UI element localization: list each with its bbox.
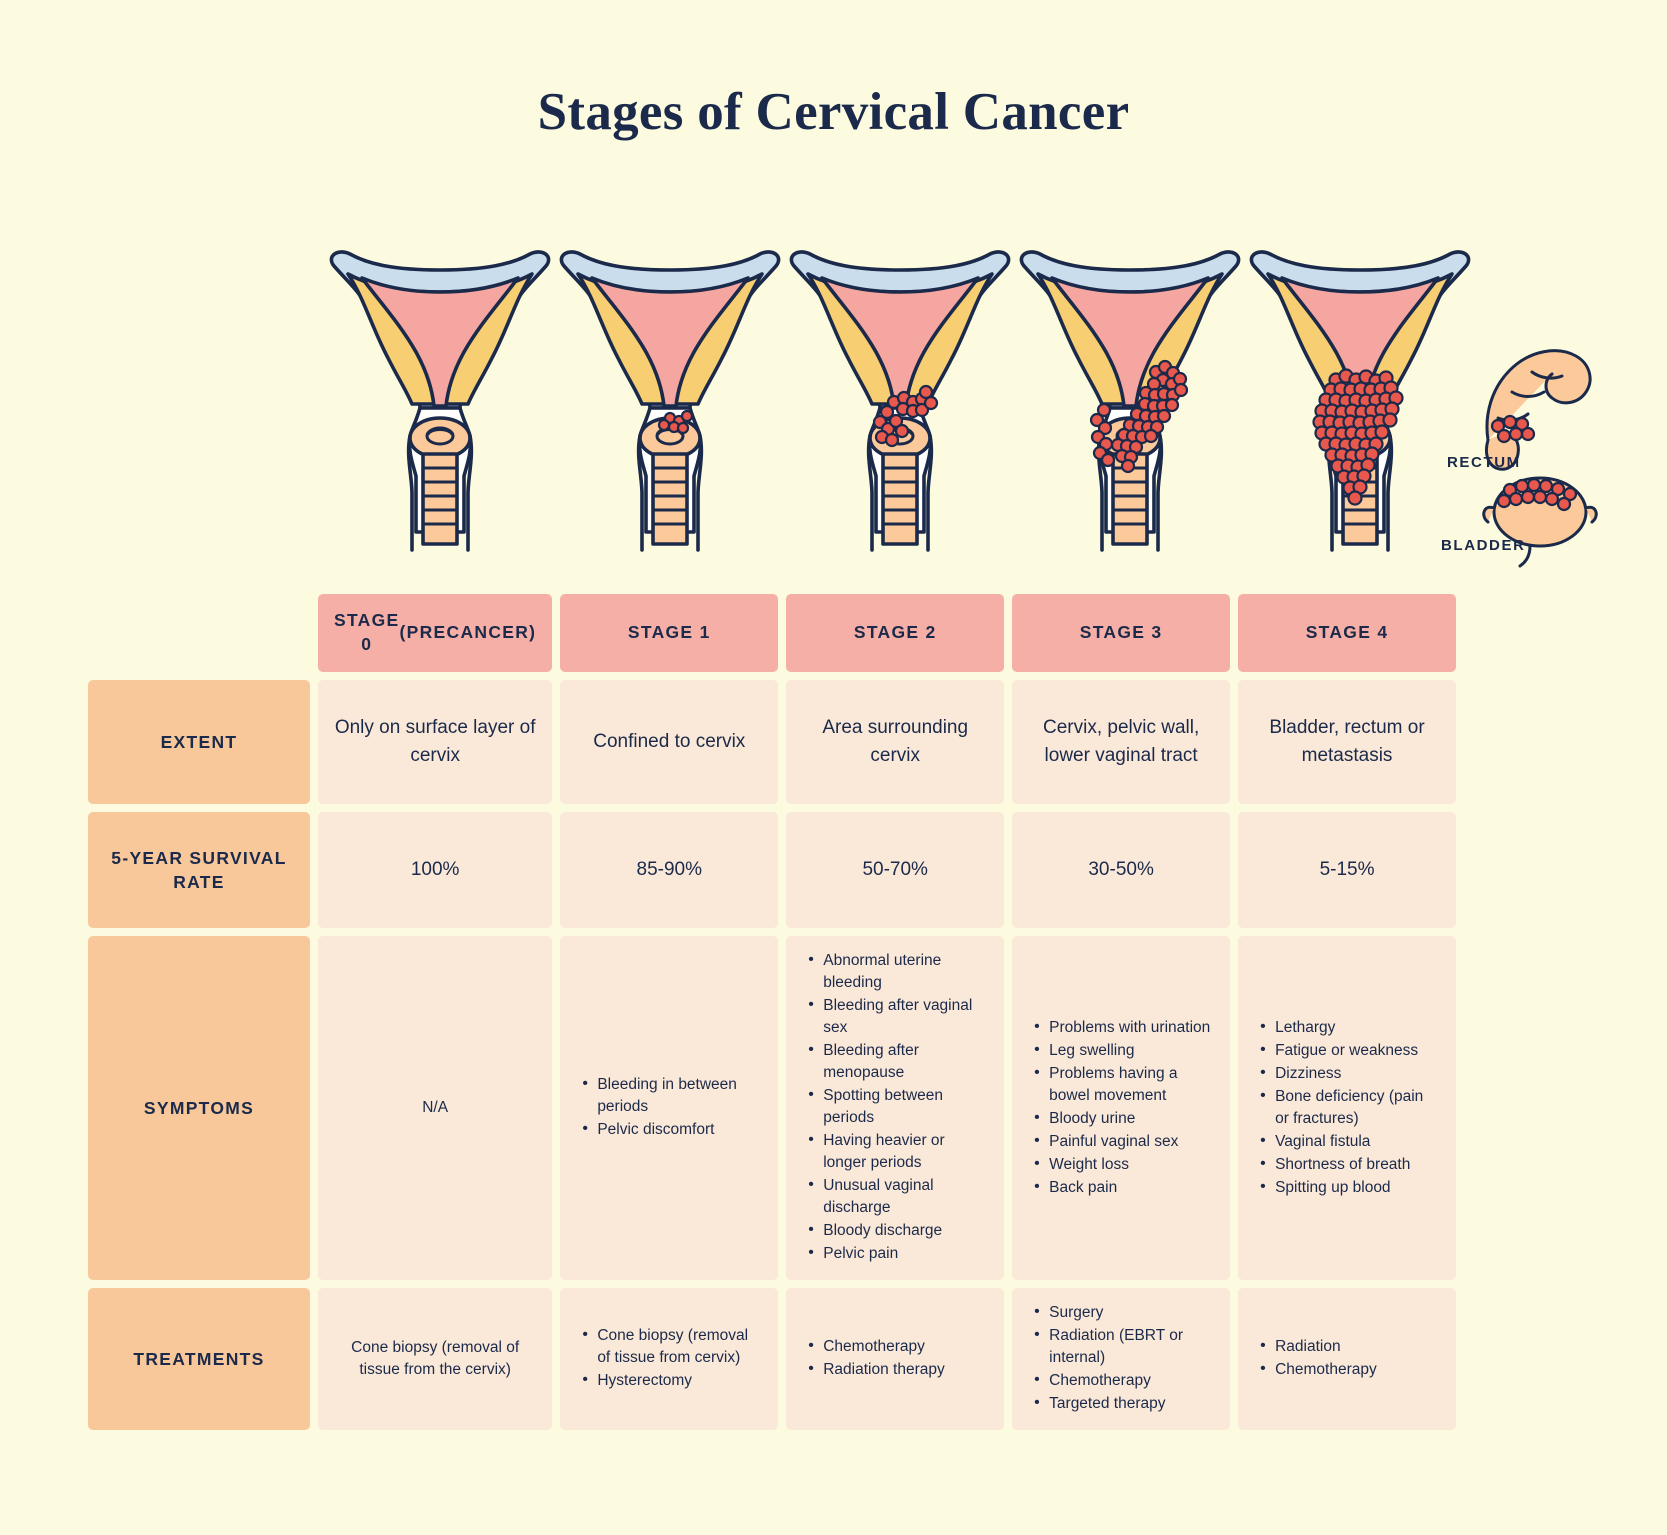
list-item: Spotting between periods: [806, 1085, 988, 1129]
uterus-diagram-stage-2: [776, 232, 1024, 552]
list-item: Vaginal fistula: [1258, 1131, 1440, 1153]
list-item: Problems having a bowel movement: [1032, 1063, 1214, 1107]
list-item: Unusual vaginal discharge: [806, 1175, 988, 1219]
row-header-treatments: TREATMENTS: [88, 1288, 310, 1430]
list-item: Shortness of breath: [1258, 1154, 1440, 1176]
uterus-diagram-stage-0: [316, 232, 564, 552]
row-header-extent: EXTENT: [88, 680, 310, 804]
cell-treatments-stage3: SurgeryRadiation (EBRT or internal)Chemo…: [1012, 1288, 1230, 1430]
cell-extent-stage3: Cervix, pelvic wall, lower vaginal tract: [1012, 680, 1230, 804]
list-item: Dizziness: [1258, 1063, 1440, 1085]
cell-survival-stage0: 100%: [318, 812, 552, 928]
cell-symptoms-stage3: Problems with urinationLeg swellingProbl…: [1012, 936, 1230, 1280]
list-item: Bloody discharge: [806, 1220, 988, 1242]
list-item: Leg swelling: [1032, 1040, 1214, 1062]
rectum-label: RECTUM: [1447, 454, 1521, 471]
cell-symptoms-stage0: N/A: [318, 936, 552, 1280]
list-item: Radiation (EBRT or internal): [1032, 1325, 1214, 1369]
list-item: Pelvic discomfort: [580, 1119, 762, 1141]
column-header-stage0: STAGE 0(PRECANCER): [318, 594, 552, 672]
list-item: Cone biopsy (removal of tissue from cerv…: [580, 1325, 762, 1369]
list-item: Bleeding after vaginal sex: [806, 995, 988, 1039]
cell-treatments-stage1: Cone biopsy (removal of tissue from cerv…: [560, 1288, 778, 1430]
list-item: Spitting up blood: [1258, 1177, 1440, 1199]
list-item: Targeted therapy: [1032, 1393, 1214, 1415]
cell-extent-stage1: Confined to cervix: [560, 680, 778, 804]
list-item: Lethargy: [1258, 1017, 1440, 1039]
row-header-symptoms: SYMPTOMS: [88, 936, 310, 1280]
cell-extent-stage2: Area surrounding cervix: [786, 680, 1004, 804]
table-corner-blank: [88, 594, 310, 672]
list-item: Bleeding in between periods: [580, 1074, 762, 1118]
list-item: Fatigue or weakness: [1258, 1040, 1440, 1062]
list-item: Painful vaginal sex: [1032, 1131, 1214, 1153]
cell-extent-stage4: Bladder, rectum or metastasis: [1238, 680, 1456, 804]
cell-treatments-stage4: RadiationChemotherapy: [1238, 1288, 1456, 1430]
cell-symptoms-stage4: LethargyFatigue or weaknessDizzinessBone…: [1238, 936, 1456, 1280]
list-item: Bone deficiency (pain or fractures): [1258, 1086, 1440, 1130]
row-header-survival: 5-YEAR SURVIVAL RATE: [88, 812, 310, 928]
list-item: Chemotherapy: [806, 1336, 988, 1358]
cell-survival-stage3: 30-50%: [1012, 812, 1230, 928]
list-item: Radiation therapy: [806, 1359, 988, 1381]
list-item: Problems with urination: [1032, 1017, 1214, 1039]
list-item: Bleeding after menopause: [806, 1040, 988, 1084]
list-item: Chemotherapy: [1032, 1370, 1214, 1392]
column-header-stage1: STAGE 1: [560, 594, 778, 672]
cell-survival-stage2: 50-70%: [786, 812, 1004, 928]
uterus-diagram-strip: RECTUMBLADDER: [0, 232, 1667, 572]
cell-symptoms-stage2: Abnormal uterine bleedingBleeding after …: [786, 936, 1004, 1280]
cell-extent-stage0: Only on surface layer of cervix: [318, 680, 552, 804]
list-item: Weight loss: [1032, 1154, 1214, 1176]
list-item: Surgery: [1032, 1302, 1214, 1324]
cell-treatments-stage2: ChemotherapyRadiation therapy: [786, 1288, 1004, 1430]
page-title: Stages of Cervical Cancer: [0, 0, 1667, 142]
uterus-diagram-stage-3: [1006, 232, 1254, 552]
stages-comparison-table: STAGE 0(PRECANCER)STAGE 1STAGE 2STAGE 3S…: [88, 594, 1456, 1430]
cell-survival-stage4: 5-15%: [1238, 812, 1456, 928]
list-item: Hysterectomy: [580, 1370, 762, 1392]
column-header-stage3: STAGE 3: [1012, 594, 1230, 672]
list-item: Having heavier or longer periods: [806, 1130, 988, 1174]
cell-survival-stage1: 85-90%: [560, 812, 778, 928]
column-header-stage4: STAGE 4: [1238, 594, 1456, 672]
list-item: Abnormal uterine bleeding: [806, 950, 988, 994]
cell-symptoms-stage1: Bleeding in between periodsPelvic discom…: [560, 936, 778, 1280]
list-item: Bloody urine: [1032, 1108, 1214, 1130]
bladder-label: BLADDER: [1441, 537, 1526, 554]
list-item: Back pain: [1032, 1177, 1214, 1199]
list-item: Pelvic pain: [806, 1243, 988, 1265]
cell-treatments-stage0: Cone biopsy (removal of tissue from the …: [318, 1288, 552, 1430]
column-header-stage2: STAGE 2: [786, 594, 1004, 672]
list-item: Radiation: [1258, 1336, 1440, 1358]
list-item: Chemotherapy: [1258, 1359, 1440, 1381]
uterus-diagram-stage-1: [546, 232, 794, 552]
metastasis-organs-group: [1380, 322, 1640, 572]
